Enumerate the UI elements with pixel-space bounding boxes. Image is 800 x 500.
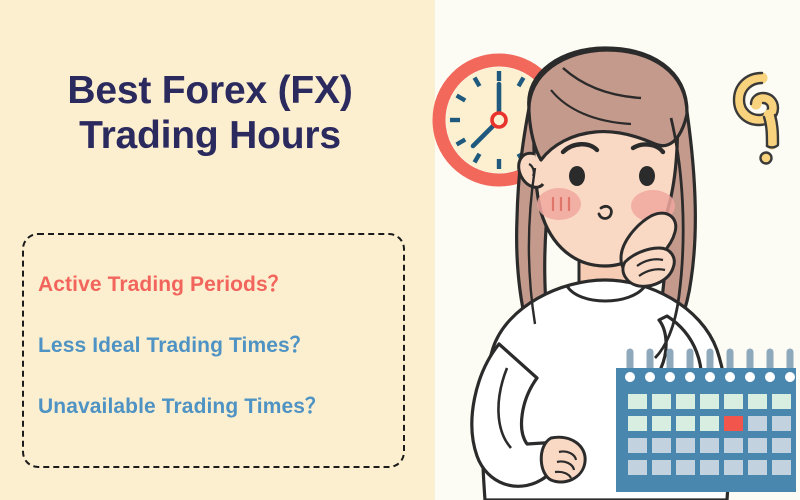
calendar-icon xyxy=(608,348,800,500)
page-title: Best Forex (FX) Trading Hours xyxy=(0,68,420,158)
list-item-unavailable-trading-times[interactable]: Unavailable Trading Times？ xyxy=(38,390,388,420)
calendar-highlighted-day xyxy=(724,416,743,431)
title-line-2: Trading Hours xyxy=(0,113,420,158)
list-item-less-ideal-trading-times[interactable]: Less Ideal Trading Times？ xyxy=(38,329,388,359)
infographic-canvas: Best Forex (FX) Trading Hours Active Tra… xyxy=(0,0,800,500)
question-mark-icon xyxy=(732,58,792,168)
list-item-active-trading-periods[interactable]: Active Trading Periods？ xyxy=(38,268,388,298)
title-line-1: Best Forex (FX) xyxy=(0,68,420,113)
question-list: Active Trading Periods？ Less Ideal Tradi… xyxy=(38,268,388,420)
